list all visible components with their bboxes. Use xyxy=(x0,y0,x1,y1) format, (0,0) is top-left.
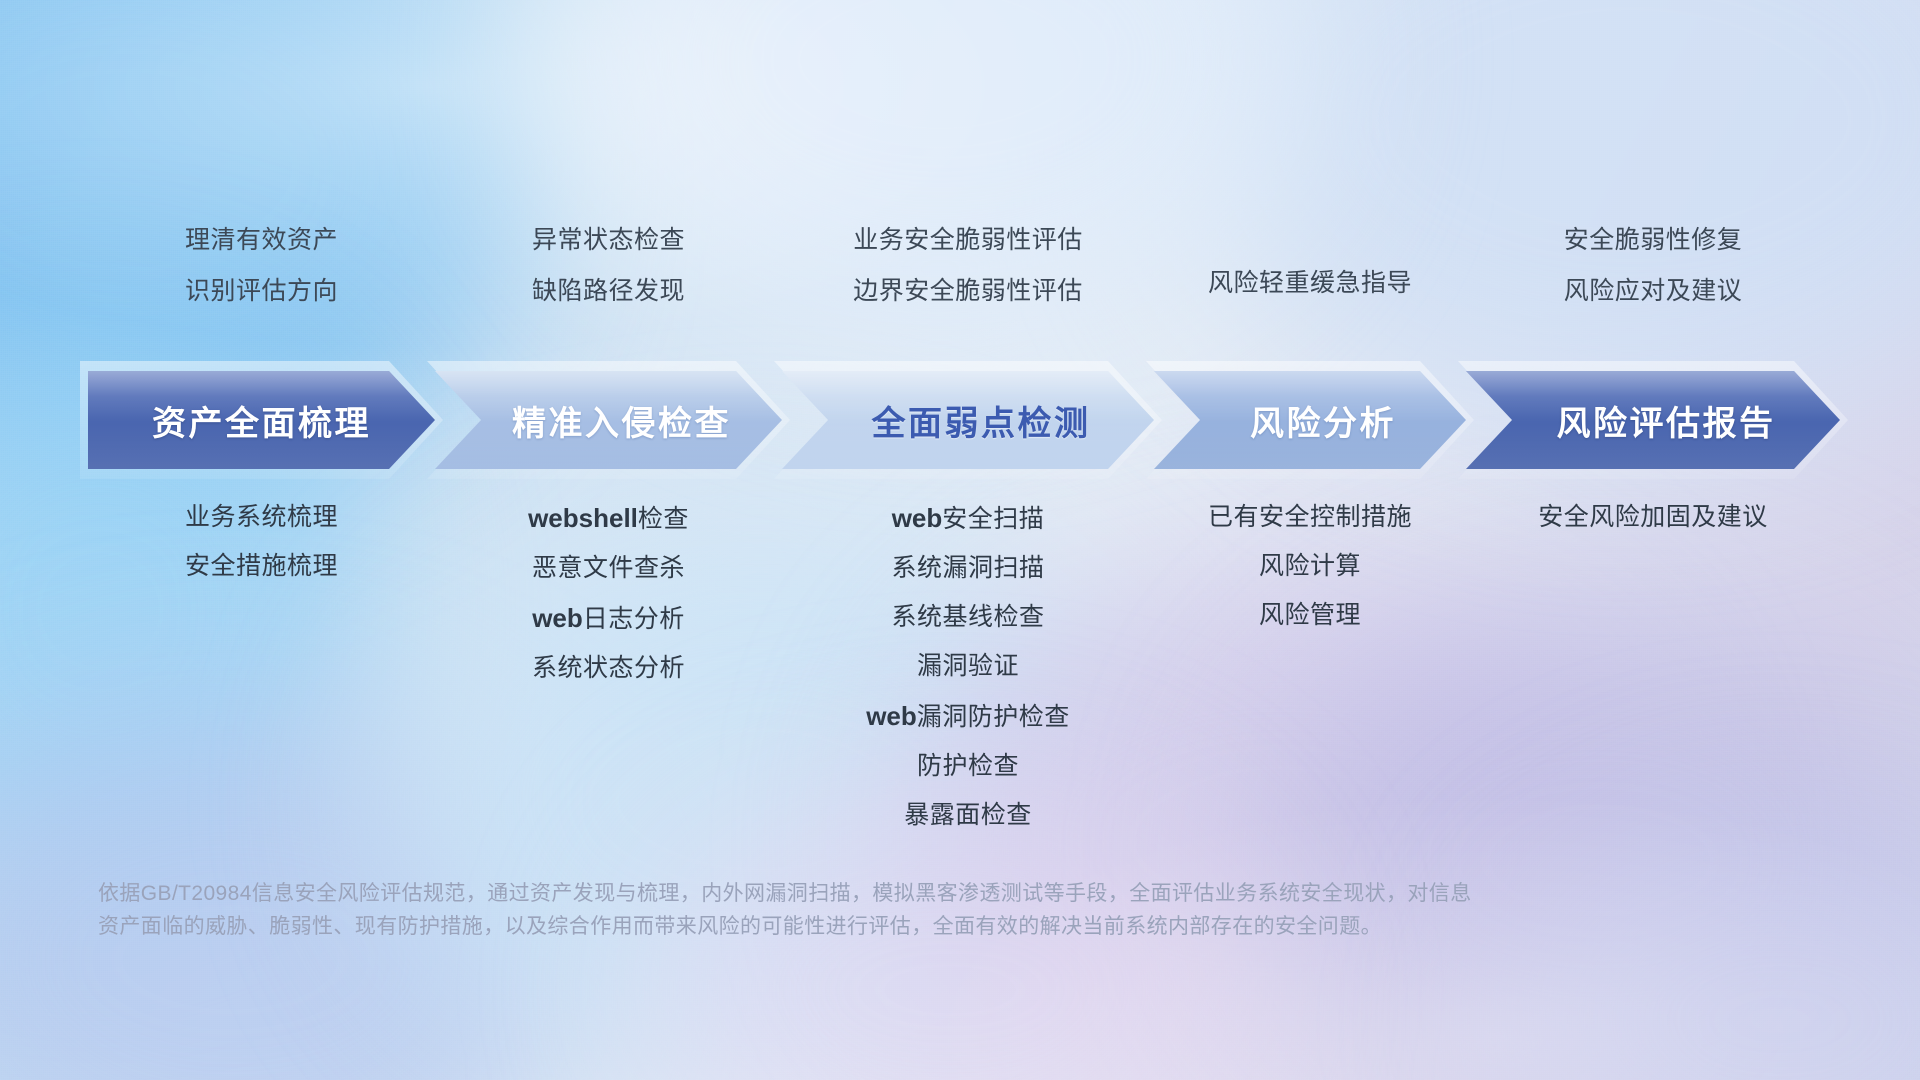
top-column-risk-analysis: 风险轻重缓急指导 xyxy=(1154,228,1466,338)
bottom-item: 安全风险加固及建议 xyxy=(1538,505,1768,530)
bottom-column-weakness-detection: web安全扫描系统漏洞扫描系统基线检查漏洞验证web漏洞防护检查防护检查暴露面检… xyxy=(782,505,1154,828)
bottom-column-risk-analysis: 已有安全控制措施风险计算风险管理 xyxy=(1154,505,1466,828)
bottom-column-asset-inventory: 业务系统梳理安全措施梳理 xyxy=(88,505,435,828)
bottom-item-prefix: web xyxy=(892,503,943,533)
bottom-item-text: 安全扫描 xyxy=(942,505,1044,533)
bottom-item: web漏洞防护检查 xyxy=(866,703,1070,730)
top-column-assessment-report: 安全脆弱性修复风险应对及建议 xyxy=(1466,228,1840,338)
bottom-item: 风险计算 xyxy=(1259,554,1361,579)
bottom-item: 风险管理 xyxy=(1259,603,1361,628)
stage-label: 精准入侵检查 xyxy=(512,396,731,445)
process-stage-weakness-detection[interactable]: 全面弱点检测 xyxy=(782,371,1154,469)
top-item: 风险应对及建议 xyxy=(1564,279,1743,304)
top-item: 业务安全脆弱性评估 xyxy=(853,228,1083,253)
bottom-column-assessment-report: 安全风险加固及建议 xyxy=(1466,505,1840,828)
process-stage-assessment-report[interactable]: 风险评估报告 xyxy=(1466,371,1840,469)
stage-label: 资产全面梳理 xyxy=(152,396,371,445)
top-item: 风险轻重缓急指导 xyxy=(1208,271,1412,296)
bottom-detail-row: 业务系统梳理安全措施梳理webshell检查恶意文件查杀web日志分析系统状态分… xyxy=(88,505,1840,828)
bottom-item: 系统基线检查 xyxy=(891,605,1044,630)
top-column-intrusion-check: 异常状态检查缺陷路径发现 xyxy=(435,228,782,338)
bottom-item: webshell检查 xyxy=(528,505,689,532)
bottom-item-text: 检查 xyxy=(638,505,689,533)
bottom-item-prefix: web xyxy=(866,701,917,731)
bottom-item: 系统状态分析 xyxy=(532,656,685,681)
bottom-item: 系统漏洞扫描 xyxy=(891,556,1044,581)
stage-label: 全面弱点检测 xyxy=(872,396,1091,445)
top-column-asset-inventory: 理清有效资产识别评估方向 xyxy=(88,228,435,338)
slide-canvas: 理清有效资产识别评估方向异常状态检查缺陷路径发现业务安全脆弱性评估边界安全脆弱性… xyxy=(0,0,1920,1080)
footer-description: 依据GB/T20984信息安全风险评估规范，通过资产发现与梳理，内外网漏洞扫描，… xyxy=(98,878,1698,943)
top-item: 异常状态检查 xyxy=(532,228,685,253)
bottom-item-text: 日志分析 xyxy=(583,605,685,633)
bottom-column-intrusion-check: webshell检查恶意文件查杀web日志分析系统状态分析 xyxy=(435,505,782,828)
bottom-item: 安全措施梳理 xyxy=(185,554,338,579)
bottom-item: 防护检查 xyxy=(917,754,1019,779)
top-item: 识别评估方向 xyxy=(185,279,338,304)
diagram-content: 理清有效资产识别评估方向异常状态检查缺陷路径发现业务安全脆弱性评估边界安全脆弱性… xyxy=(0,0,1920,1080)
top-item: 理清有效资产 xyxy=(185,228,338,253)
bottom-item: 暴露面检查 xyxy=(904,803,1032,828)
top-item: 边界安全脆弱性评估 xyxy=(853,279,1083,304)
bottom-item-prefix: webshell xyxy=(528,503,638,533)
bottom-item-text: 漏洞防护检查 xyxy=(917,703,1070,731)
top-column-weakness-detection: 业务安全脆弱性评估边界安全脆弱性评估 xyxy=(782,228,1154,338)
stage-label: 风险分析 xyxy=(1250,396,1396,445)
bottom-item: web安全扫描 xyxy=(892,505,1045,532)
process-stage-risk-analysis[interactable]: 风险分析 xyxy=(1154,371,1466,469)
process-stage-intrusion-check[interactable]: 精准入侵检查 xyxy=(435,371,782,469)
bottom-item-prefix: web xyxy=(532,603,583,633)
footer-line-2: 资产面临的威胁、脆弱性、现有防护措施，以及综合作用而带来风险的可能性进行评估，全… xyxy=(98,911,1698,944)
bottom-item: 已有安全控制措施 xyxy=(1208,505,1412,530)
bottom-item: web日志分析 xyxy=(532,605,685,632)
process-stage-asset-inventory[interactable]: 资产全面梳理 xyxy=(88,371,435,469)
top-annotation-row: 理清有效资产识别评估方向异常状态检查缺陷路径发现业务安全脆弱性评估边界安全脆弱性… xyxy=(88,228,1840,338)
stage-label: 风险评估报告 xyxy=(1557,396,1776,445)
bottom-item: 漏洞验证 xyxy=(917,654,1019,679)
top-item: 安全脆弱性修复 xyxy=(1564,228,1743,253)
top-item: 缺陷路径发现 xyxy=(532,279,685,304)
bottom-item: 恶意文件查杀 xyxy=(532,556,685,581)
footer-line-1: 依据GB/T20984信息安全风险评估规范，通过资产发现与梳理，内外网漏洞扫描，… xyxy=(98,878,1698,911)
process-chevron-banner: 资产全面梳理精准入侵检查全面弱点检测风险分析风险评估报告 xyxy=(88,371,1840,469)
bottom-item: 业务系统梳理 xyxy=(185,505,338,530)
